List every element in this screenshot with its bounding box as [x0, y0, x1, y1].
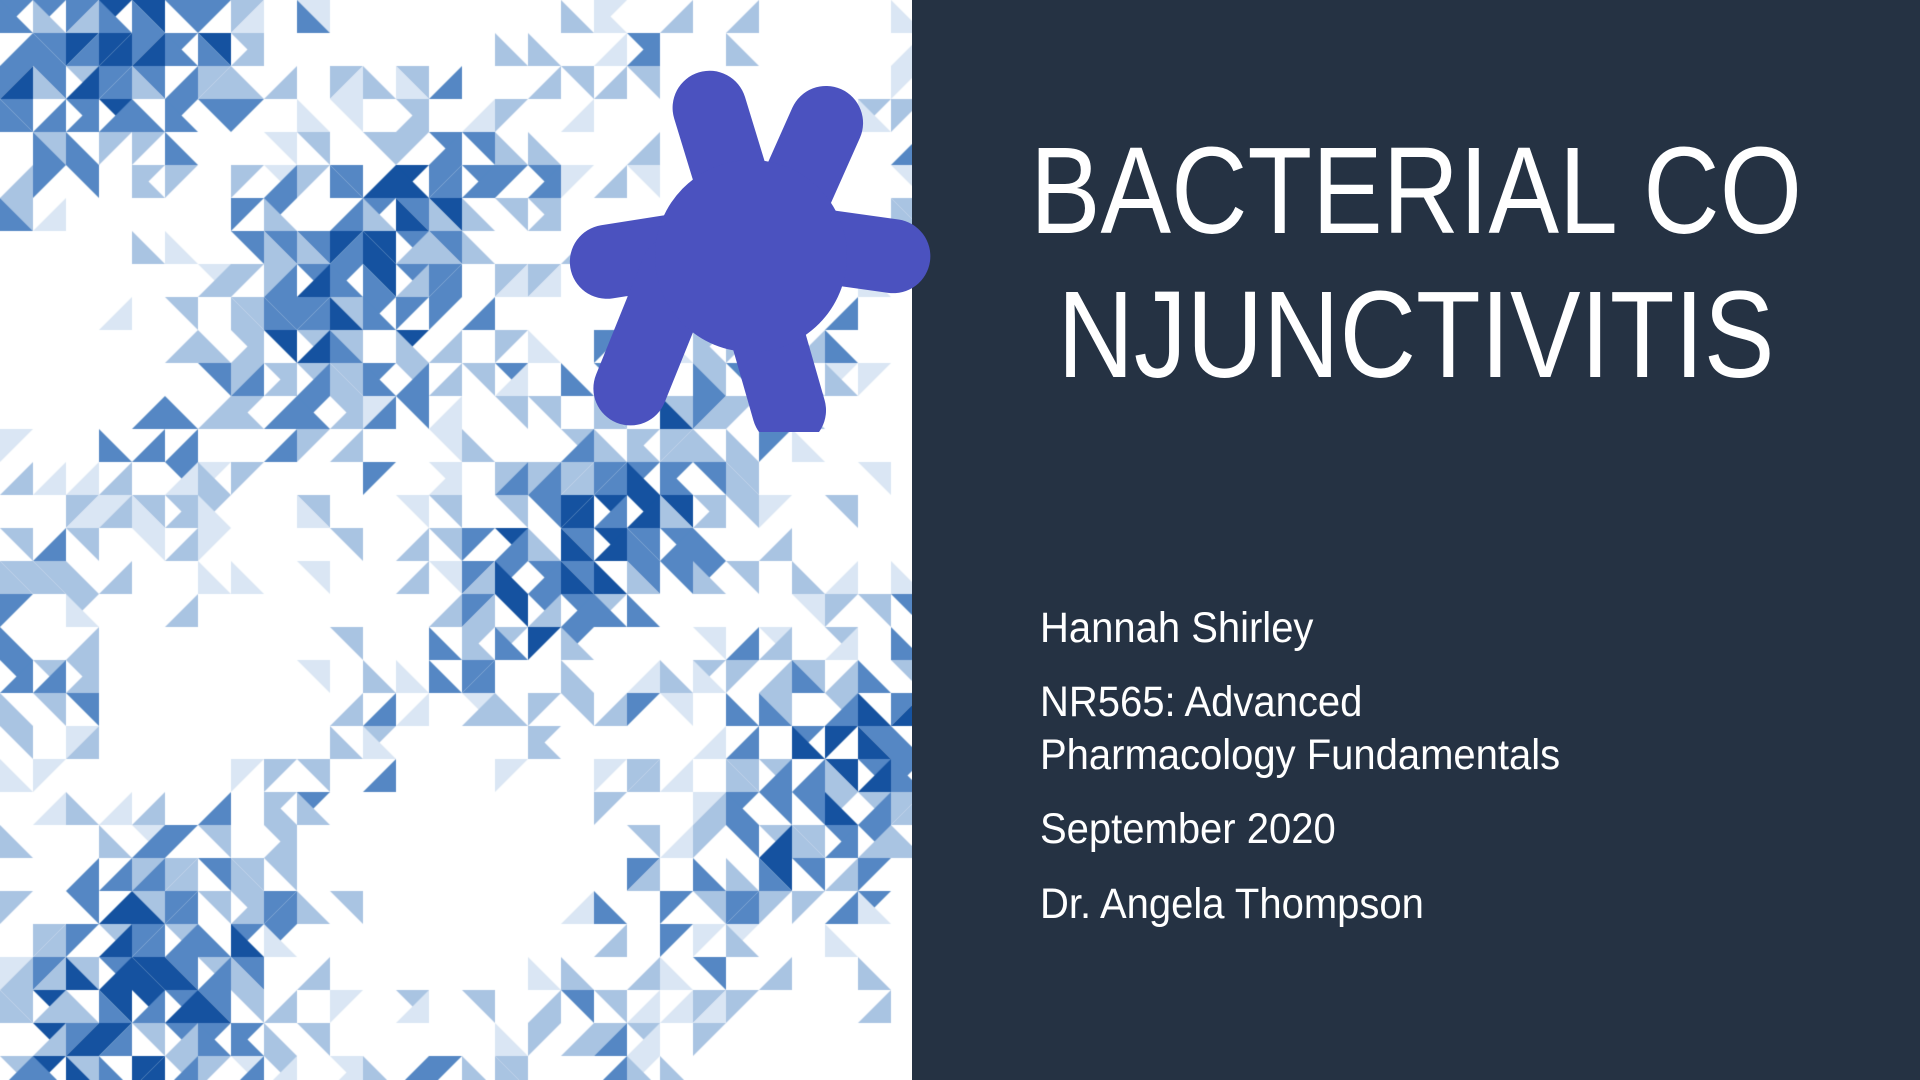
title-block: BACTERIAL CONJUNCTIVITIS — [912, 120, 1920, 408]
presentation-slide: BACTERIAL CONJUNCTIVITIS Hannah Shirley … — [0, 0, 1920, 1080]
decorative-panel — [0, 0, 912, 1080]
subtitle-instructor: Dr. Angela Thompson — [1040, 878, 1784, 930]
subtitle-block: Hannah Shirley NR565: Advanced Pharmacol… — [1040, 602, 1840, 930]
subtitle-course: NR565: Advanced Pharmacology Fundamental… — [1040, 676, 1784, 781]
subtitle-author: Hannah Shirley — [1040, 602, 1784, 654]
triangle-mosaic-pattern-icon — [0, 0, 912, 1080]
page-title: BACTERIAL CONJUNCTIVITIS — [983, 120, 1850, 408]
title-panel: BACTERIAL CONJUNCTIVITIS Hannah Shirley … — [912, 0, 1920, 1080]
subtitle-date: September 2020 — [1040, 803, 1784, 855]
